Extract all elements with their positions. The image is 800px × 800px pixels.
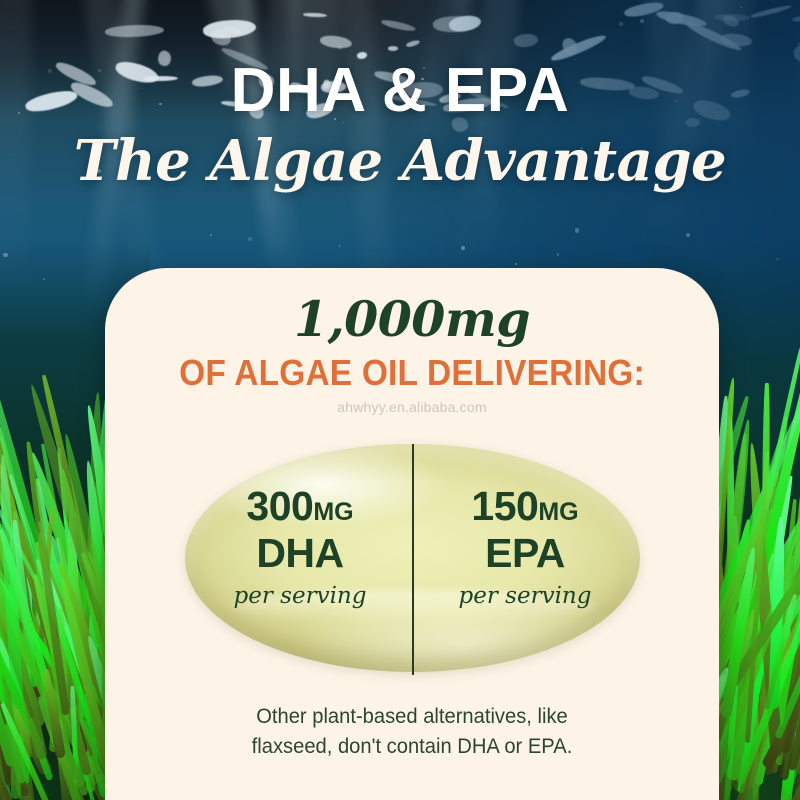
capsule-half-epa: 150MG EPA per serving: [416, 486, 634, 608]
capsule-half-dha: 300MG DHA per serving: [191, 486, 409, 608]
epa-label: EPA: [416, 531, 634, 575]
bubble: [686, 233, 690, 237]
product-infographic: DHA & EPA The Algae Advantage 1,000mg OF…: [0, 0, 800, 800]
page-title: DHA & EPA: [0, 60, 800, 122]
headline-block: DHA & EPA The Algae Advantage: [0, 60, 800, 191]
bubble: [515, 263, 517, 265]
dose-amount: 1,000mg: [105, 290, 719, 348]
footnote: Other plant-based alternatives, like fla…: [156, 702, 669, 762]
delivering-label: OF ALGAE OIL DELIVERING:: [126, 352, 697, 394]
info-card: 1,000mg OF ALGAE OIL DELIVERING: ahwhyy.…: [105, 268, 719, 800]
epa-unit: MG: [538, 498, 578, 526]
bubble: [461, 246, 465, 250]
bubble: [338, 45, 342, 49]
bubble: [640, 19, 644, 23]
dha-amount: 300: [246, 483, 313, 529]
capsule-graphic: 300MG DHA per serving 150MG EPA per serv…: [185, 444, 640, 679]
footnote-line-1: Other plant-based alternatives, like: [256, 705, 568, 728]
epa-amount: 150: [471, 483, 538, 529]
watermark-text: ahwhyy.en.alibaba.com: [105, 399, 719, 415]
epa-amount-row: 150MG: [416, 486, 634, 527]
page-subtitle: The Algae Advantage: [0, 132, 800, 191]
dha-label: DHA: [191, 531, 409, 575]
dha-serving-note: per serving: [191, 585, 409, 608]
bubble: [210, 234, 212, 236]
dha-amount-row: 300MG: [191, 486, 409, 527]
epa-serving-note: per serving: [416, 585, 634, 608]
capsule-divider-icon: [412, 444, 414, 675]
footnote-line-2: flaxseed, don't contain DHA or EPA.: [252, 735, 573, 758]
dha-unit: MG: [313, 498, 353, 526]
